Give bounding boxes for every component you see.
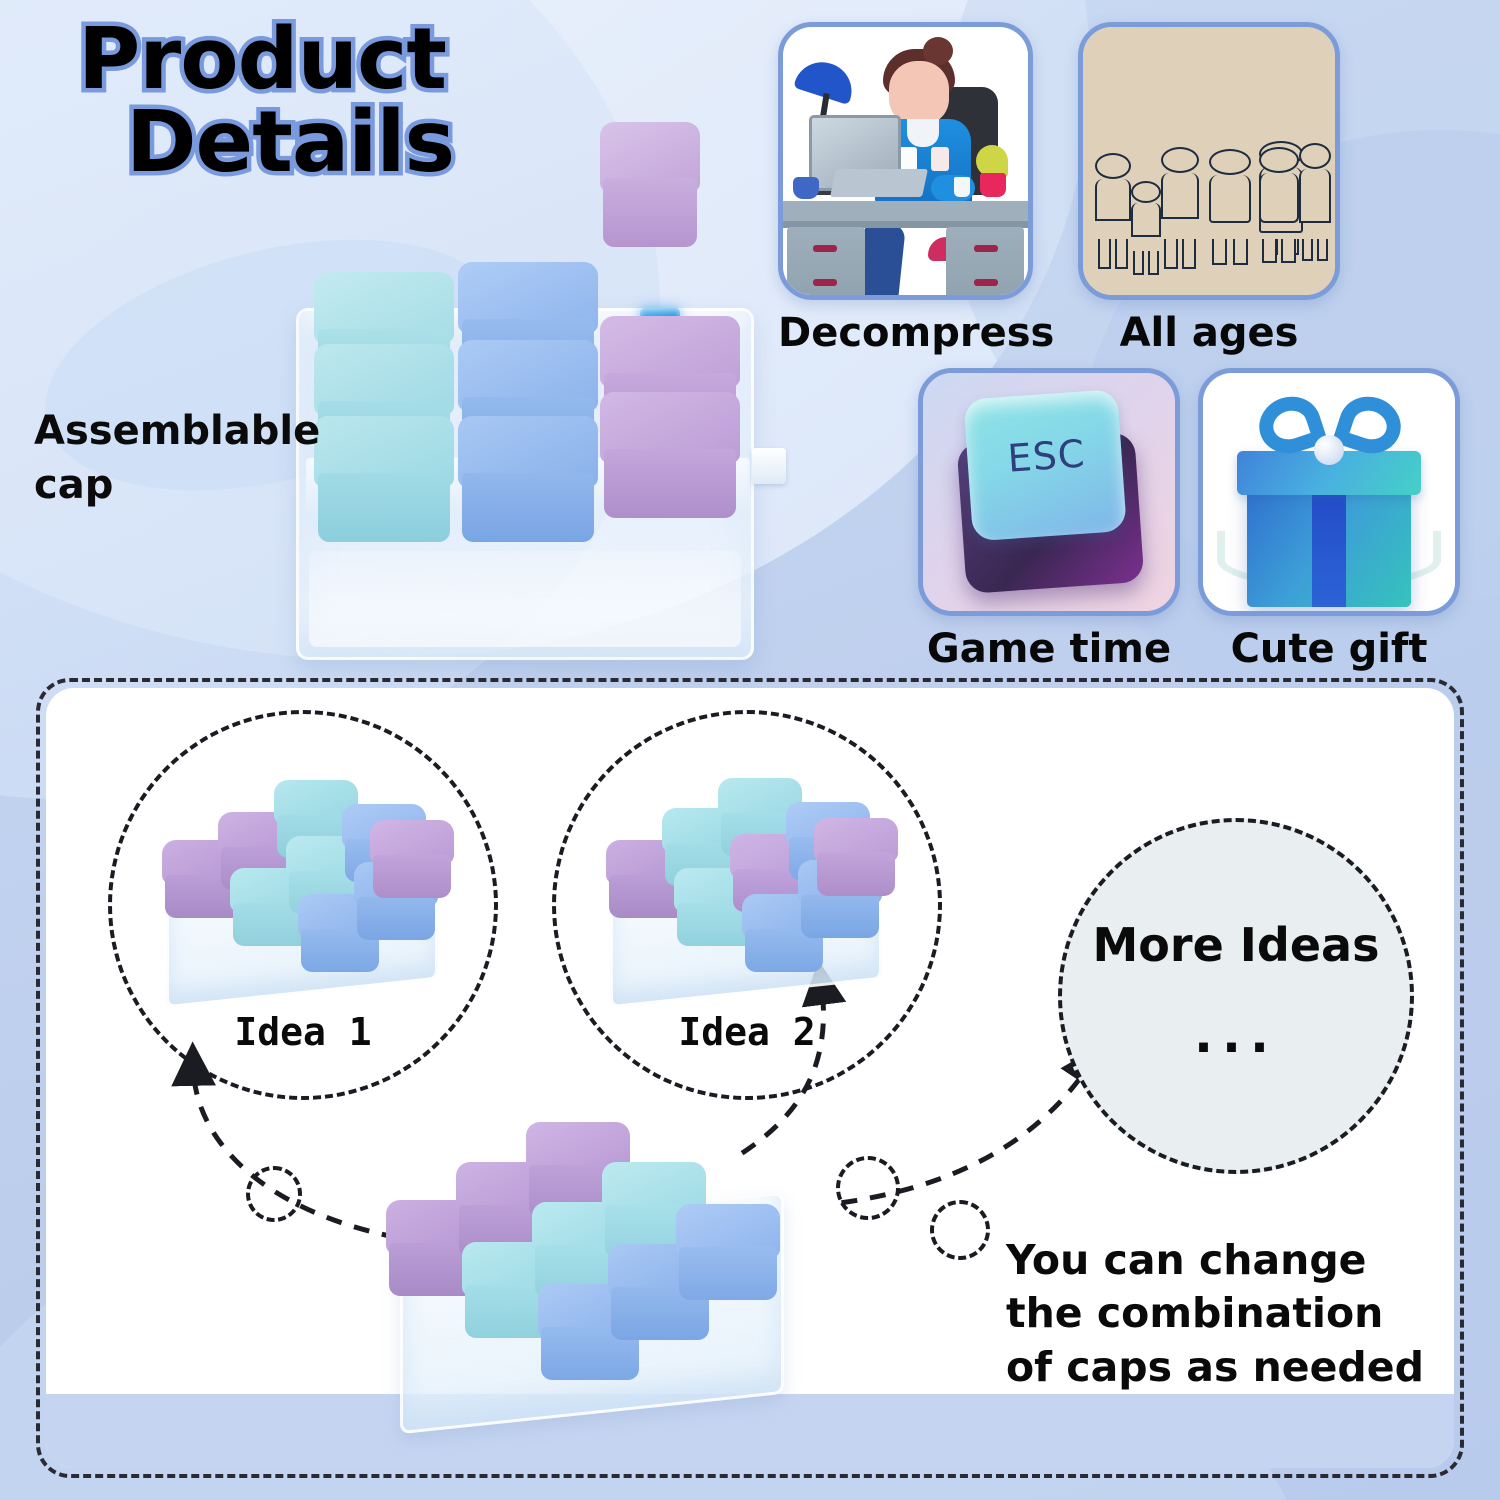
idea-bubble-2[interactable]: Idea 2 <box>552 710 942 1100</box>
feature-label-cute-gift: Cute gift <box>1198 626 1460 672</box>
idea-1-label: Idea 1 <box>112 1010 494 1054</box>
feature-card-decompress[interactable]: Decompress <box>778 22 1033 300</box>
all-ages-card-frame <box>1078 22 1340 300</box>
center-keycap-r3c3 <box>676 1204 780 1300</box>
feature-card-game-time[interactable]: ESC Game time <box>918 368 1180 616</box>
ideas-caption-line1: You can change <box>1006 1234 1454 1287</box>
office-worker-at-desk-icon <box>783 27 1028 295</box>
gift-box-with-ribbon-icon <box>1203 373 1455 611</box>
ideas-panel: Idea 1 Idea 2 More Ideas ... <box>36 678 1464 1478</box>
hero-keycap-teal-3 <box>314 416 454 542</box>
idea-1-product <box>156 766 448 998</box>
thought-dot-3 <box>930 1200 990 1260</box>
decompress-card-frame <box>778 22 1033 300</box>
more-ideas-bubble[interactable]: More Ideas ... <box>1058 818 1414 1174</box>
assemblable-cap-label: Assemblable cap <box>34 404 334 512</box>
ideas-caption-line2: the combination <box>1006 1287 1454 1340</box>
feature-label-decompress: Decompress <box>778 310 1033 356</box>
esc-keycap-icon: ESC <box>923 373 1175 611</box>
page-title: Product Details <box>78 18 454 185</box>
idea-2-label: Idea 2 <box>556 1010 938 1054</box>
idea-2-product <box>600 766 892 998</box>
feature-card-cute-gift[interactable]: Cute gift <box>1198 368 1460 616</box>
page-title-line2: Details <box>78 101 454 184</box>
hero-keycap-purple-2 <box>600 392 740 518</box>
more-ideas-label: More Ideas <box>1062 918 1410 972</box>
keycap-front <box>603 178 697 247</box>
feature-label-all-ages: All ages <box>1078 310 1340 356</box>
feature-card-all-ages[interactable]: All ages <box>1078 22 1340 300</box>
ideas-panel-inner: Idea 1 Idea 2 More Ideas ... <box>46 688 1454 1468</box>
hero-keycap-blue-3 <box>458 416 598 542</box>
ideas-caption-line3: of caps as needed <box>1006 1341 1454 1394</box>
ideas-caption: You can change the combination of caps a… <box>1006 1234 1454 1394</box>
hero-product-image <box>288 262 768 674</box>
feature-label-game-time: Game time <box>918 626 1180 672</box>
center-product-image <box>382 1094 802 1434</box>
thought-dot-2 <box>836 1156 900 1220</box>
more-ideas-dots: ... <box>1062 1006 1410 1064</box>
family-line-art-icon <box>1083 27 1335 295</box>
cute-gift-card-frame <box>1198 368 1460 616</box>
idea-bubble-1[interactable]: Idea 1 <box>108 710 498 1100</box>
feature-card-grid: Decompress <box>778 22 1470 670</box>
game-time-card-frame: ESC <box>918 368 1180 616</box>
assemblable-cap-label-line1: Assemblable <box>34 404 334 458</box>
assemblable-cap-label-line2: cap <box>34 458 334 512</box>
thought-dot-1 <box>246 1166 302 1222</box>
floating-keycap-icon <box>600 122 700 247</box>
